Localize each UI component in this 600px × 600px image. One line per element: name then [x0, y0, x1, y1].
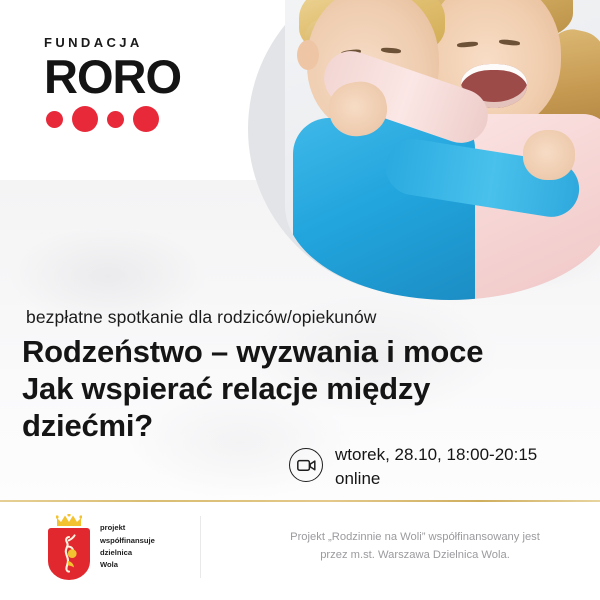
crest-line-3: dzielnica — [100, 548, 132, 557]
headline-line-2: Jak wspierać relacje między — [22, 371, 592, 408]
event-when: wtorek, 28.10, 18:00-20:15 — [335, 445, 537, 464]
event-mode: online — [335, 469, 380, 488]
boy-ear — [297, 40, 319, 70]
event-subtitle: bezpłatne spotkanie dla rodziców/opiekun… — [26, 307, 377, 328]
funding-note-line-1: Projekt „Rodzinnie na Woli” współfinanso… — [290, 531, 540, 543]
photo-illustration — [285, 0, 600, 300]
crest-line-1: projekt — [100, 523, 125, 532]
event-meta-text: wtorek, 28.10, 18:00-20:15 online — [335, 443, 537, 491]
logo-dot-1 — [46, 111, 63, 128]
crest-line-4: Wola — [100, 560, 118, 569]
event-meta: wtorek, 28.10, 18:00-20:15 online — [289, 443, 537, 491]
boy-hand — [523, 130, 575, 180]
fundacja-roro-logo: FUNDACJA RORO — [44, 36, 224, 132]
footer-vertical-divider — [200, 516, 201, 578]
wola-sponsor-text: projekt współfinansuje dzielnica Wola — [100, 522, 155, 571]
two-children-hugging-photo — [285, 0, 600, 300]
coat-of-arms-shield — [48, 528, 90, 580]
poster-footer: projekt współfinansuje dzielnica Wola Pr… — [0, 502, 600, 600]
logo-dot-2 — [72, 106, 98, 132]
logo-top-word: FUNDACJA — [44, 36, 224, 49]
logo-dots — [46, 106, 224, 132]
wola-sponsor-block: projekt współfinansuje dzielnica Wola — [48, 514, 155, 580]
crest-line-2: współfinansuje — [100, 536, 155, 545]
warsaw-wola-coat-of-arms-icon — [48, 514, 90, 580]
funding-note-line-2: przez m.st. Warszawa Dzielnica Wola. — [320, 549, 510, 561]
logo-main-word: RORO — [44, 52, 224, 101]
funding-note: Projekt „Rodzinnie na Woli” współfinanso… — [250, 528, 580, 564]
headline-line-3: dziećmi? — [22, 408, 592, 445]
headline-line-1: Rodzeństwo – wyzwania i moce — [22, 334, 592, 371]
poster-canvas: FUNDACJA RORO bezpłatne spotkanie dla ro… — [0, 0, 600, 600]
event-headline: Rodzeństwo – wyzwania i moce Jak wspiera… — [22, 334, 592, 445]
logo-dot-3 — [107, 111, 124, 128]
video-camera-icon — [289, 448, 323, 482]
logo-dot-4 — [133, 106, 159, 132]
